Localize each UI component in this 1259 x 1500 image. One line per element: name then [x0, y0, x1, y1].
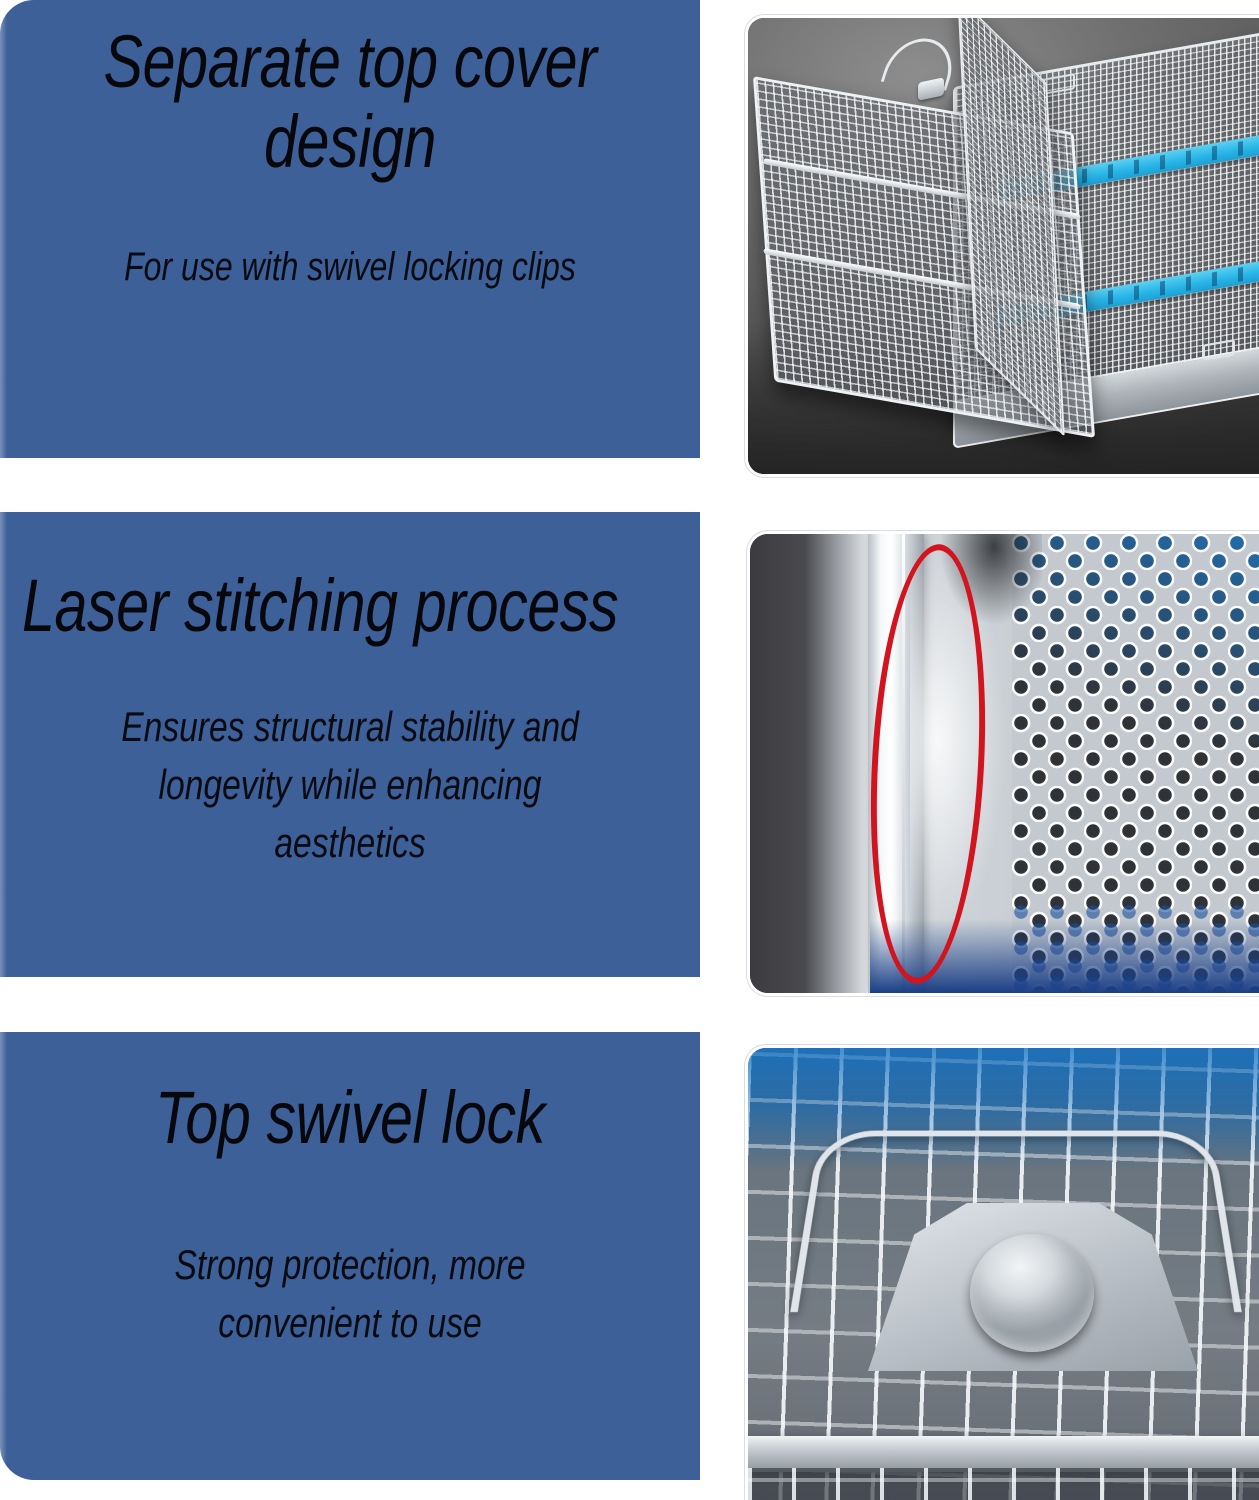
feature-text-card: Separate top cover design For use with s… — [0, 0, 700, 458]
product-photo-laser-stitching — [750, 534, 1259, 993]
product-feature-infographic: Separate top cover design For use with s… — [0, 0, 1259, 1500]
panel-title: Laser stitching process — [22, 566, 678, 646]
panel-subtitle: Strong protection, more convenient to us… — [22, 1236, 678, 1352]
panel-subtitle: Ensures structural stability and longevi… — [22, 698, 678, 872]
product-photo-separate-top-cover — [748, 18, 1259, 474]
swivel-lock-knob — [970, 1234, 1094, 1352]
feature-text-card: Top swivel lock Strong protection, more … — [0, 1032, 700, 1480]
product-photo-top-swivel-lock — [748, 1048, 1259, 1500]
feature-text-card: Laser stitching process Ensures structur… — [0, 512, 700, 977]
feature-panel-separate-top-cover: Separate top cover design For use with s… — [0, 0, 1259, 458]
basket-bottom-mesh — [748, 1468, 1259, 1500]
panel-subtitle: For use with swivel locking clips — [22, 240, 678, 295]
feature-panel-top-swivel-lock: Top swivel lock Strong protection, more … — [0, 1032, 1259, 1480]
feature-panel-laser-stitching: Laser stitching process Ensures structur… — [0, 512, 1259, 977]
panel-title: Separate top cover design — [22, 22, 678, 182]
panel-title: Top swivel lock — [22, 1078, 678, 1158]
basket-bottom-rail — [748, 1436, 1259, 1472]
